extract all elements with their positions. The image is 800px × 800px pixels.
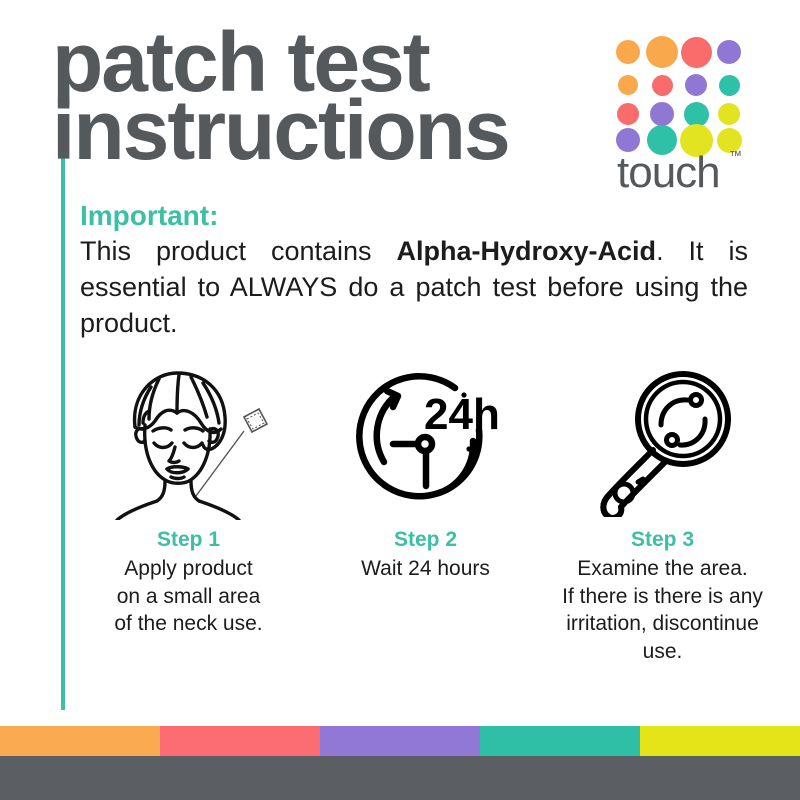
logo-dot-r2-c3 xyxy=(685,74,707,96)
trademark-icon: ™ xyxy=(729,148,742,163)
vertical-accent-rule xyxy=(61,128,65,710)
step-2-description: Wait 24 hours xyxy=(361,555,490,583)
step-2-illustration: 24h xyxy=(351,362,501,522)
logo-dot-r3-c2 xyxy=(650,102,674,126)
footer-color-bar xyxy=(0,726,800,756)
step-item-1: Step 1 Apply product on a small area of … xyxy=(70,362,307,638)
poster-canvas: patch test instructions touch ™ Importan… xyxy=(0,0,800,800)
footer-color-segment-3 xyxy=(320,726,480,756)
brand-logo: touch ™ xyxy=(612,36,747,148)
logo-dot-grid-icon xyxy=(612,36,738,148)
body-text-part-one: This product contains xyxy=(80,236,397,266)
footer-color-segment-5 xyxy=(640,726,800,756)
magnifying-glass-icon xyxy=(583,367,743,517)
body-text-emphasis: Alpha-Hydroxy-Acid xyxy=(397,236,657,266)
footer-color-segment-1 xyxy=(0,726,160,756)
step-item-2: 24h Step 2 Wait 24 hours xyxy=(307,362,544,583)
logo-dot-r1-c2 xyxy=(646,36,678,68)
patch-diamond-icon xyxy=(244,409,267,432)
logo-dot-r3-c4 xyxy=(718,103,740,125)
clock-24h-text: 24h xyxy=(424,390,500,439)
logo-dot-r3-c3 xyxy=(684,102,709,127)
logo-dot-r2-c2 xyxy=(652,75,673,96)
page-title: patch test instructions xyxy=(52,26,612,166)
step-3-label: Step 3 xyxy=(631,528,694,552)
step-2-label: Step 2 xyxy=(394,528,457,552)
footer-gray-bar xyxy=(0,756,800,800)
logo-dot-r1-c3 xyxy=(681,37,712,68)
important-heading: Important: xyxy=(80,200,218,232)
title-line-two: instructions xyxy=(52,94,612,166)
logo-dot-r2-c1 xyxy=(618,75,638,95)
woman-with-hair-towel-icon xyxy=(99,365,279,520)
footer-color-segment-4 xyxy=(480,726,640,756)
logo-dot-r3-c1 xyxy=(617,103,639,125)
footer-color-segment-2 xyxy=(160,726,320,756)
clock-24h-icon: 24h xyxy=(351,367,501,517)
step-1-label: Step 1 xyxy=(157,528,220,552)
step-3-illustration xyxy=(583,362,743,522)
step-1-description: Apply product on a small area of the nec… xyxy=(114,555,262,638)
logo-wordmark: touch xyxy=(617,148,720,198)
important-body-text: This product contains Alpha-Hydroxy-Acid… xyxy=(80,234,748,342)
step-item-3: Step 3 Examine the area. If there is the… xyxy=(544,362,781,666)
steps-row: Step 1 Apply product on a small area of … xyxy=(70,362,782,666)
logo-dot-r1-c4 xyxy=(717,40,741,64)
step-1-illustration xyxy=(99,362,279,522)
logo-dot-r2-c4 xyxy=(719,75,740,96)
step-3-description: Examine the area. If there is there is a… xyxy=(544,555,781,666)
logo-dot-r1-c1 xyxy=(616,40,640,64)
